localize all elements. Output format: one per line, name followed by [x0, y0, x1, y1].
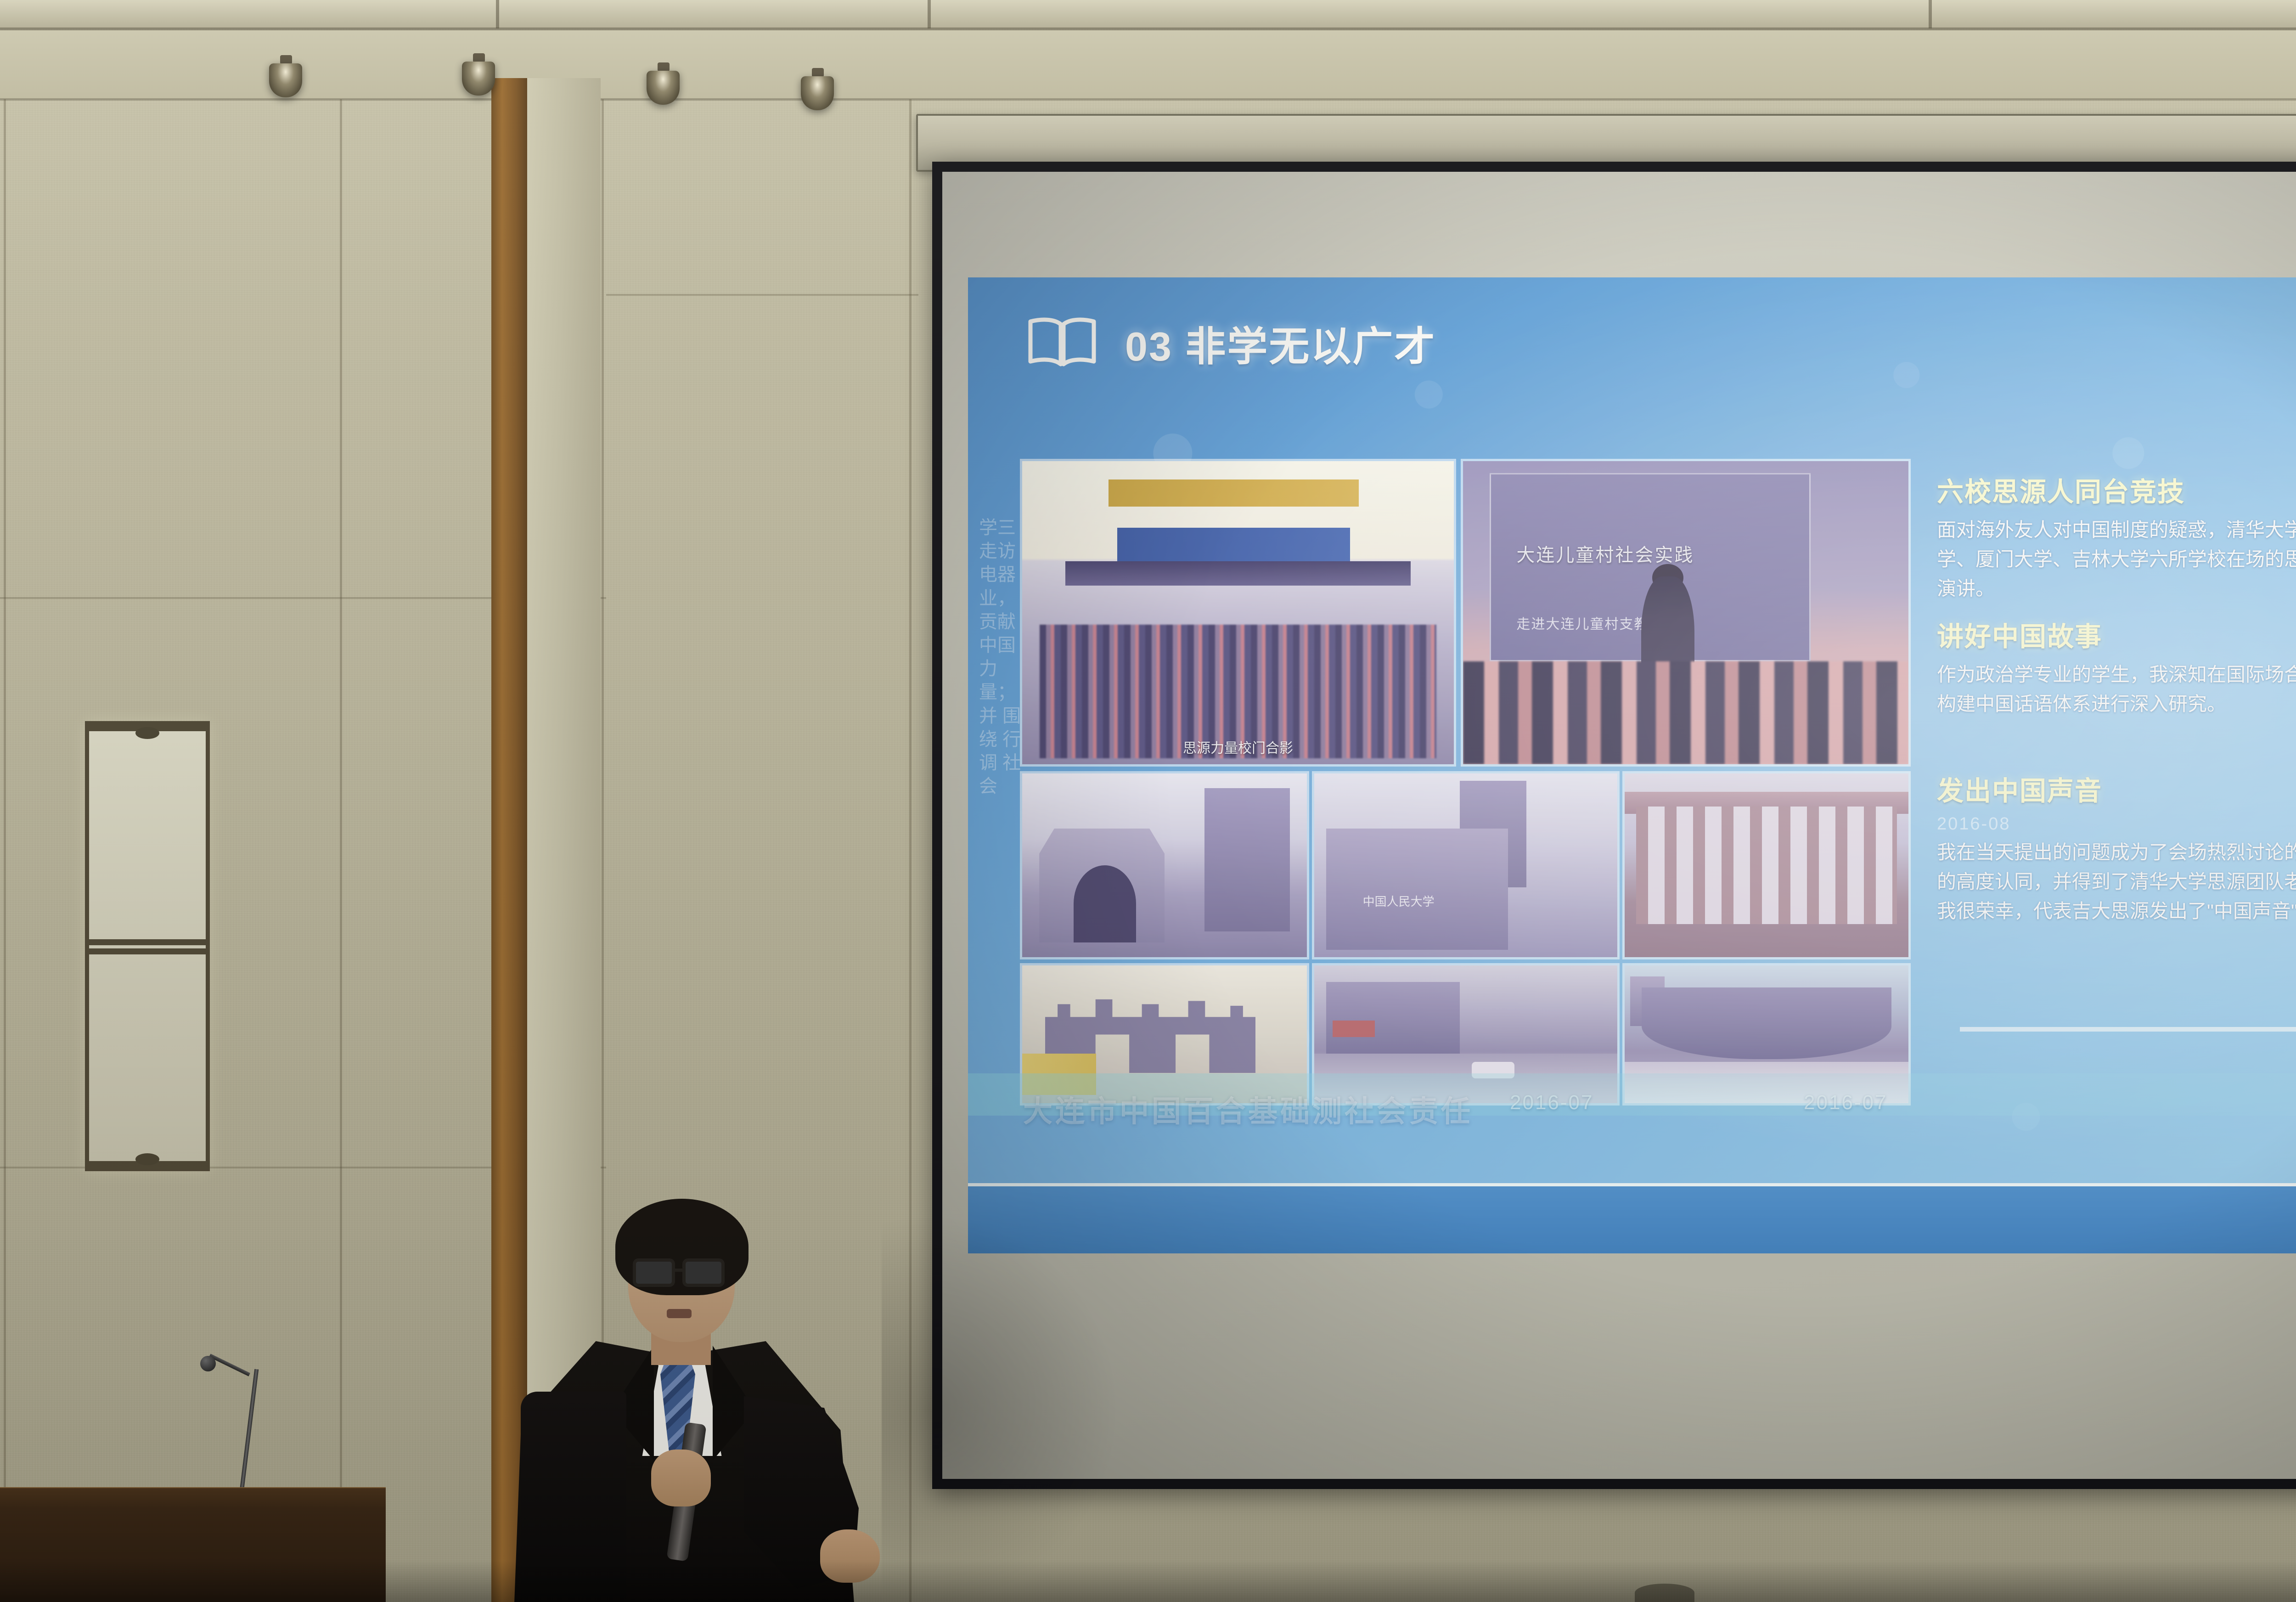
- colonnade-building-photo: [1625, 773, 1908, 957]
- open-book-icon: [1028, 316, 1097, 371]
- ceiling-seam: [496, 0, 499, 28]
- ceiling-soffit: [0, 0, 2296, 28]
- light-neck: [812, 68, 824, 77]
- section-3-heading: 发出中国声音: [1937, 769, 2296, 808]
- projected-slide: 03 非学无以广才 学三 走访 电器 业，贡献中国力量；并 围绕 行调 社会: [968, 277, 2296, 1253]
- upper-wall-band: [0, 30, 2296, 99]
- slide-header: 03 非学无以广才: [1028, 314, 1436, 372]
- ceiling-light: [801, 76, 834, 110]
- light-neck: [658, 62, 670, 72]
- photo-collage: 思源力量校门合影 大连儿童村社会实践 走进大连儿童村支教活动: [1022, 461, 1908, 1102]
- eyeglasses-right-lens: [682, 1258, 725, 1287]
- section-2-heading: 讲好中国故事: [1937, 615, 2296, 654]
- mouth: [667, 1309, 692, 1318]
- inner-slide-text: 大连儿童村社会实践: [1516, 540, 1837, 567]
- wall-sconce-light: [85, 721, 210, 1171]
- section-3-body: 我在当天提出的问题成为了会场热烈讨论的热点问题，我的阐释得到了在美华人的高度认同…: [1937, 838, 2296, 925]
- renmin-university-photo: 中国人民大学: [1314, 773, 1617, 957]
- photo-caption: 思源力量校门合影: [1022, 737, 1454, 757]
- floor-shadow: [0, 1561, 2296, 1602]
- light-neck: [280, 55, 292, 64]
- section-1-body: 面对海外友人对中国制度的疑惑，清华大学、中国人民大学、复旦大学、中山大学、厦门大…: [1937, 515, 2296, 603]
- eyeglasses-bridge: [674, 1269, 684, 1272]
- section-2: 讲好中国故事 作为政治学专业的学生，我深知在国际场合讲好中国故事的重要性，更致力…: [1937, 615, 2296, 719]
- ghost-overlay-text: 大连市中国百合基础测社会责任: [1023, 1088, 2296, 1130]
- upper-wall-edge: [0, 98, 2296, 101]
- podium-mic-head-icon: [200, 1356, 216, 1371]
- slide-text-column: 六校思源人同台竞技 面对海外友人对中国制度的疑惑，清华大学、中国人民大学、复旦大…: [1937, 470, 2296, 931]
- section-2-body: 作为政治学专业的学生，我深知在国际场合讲好中国故事的重要性，更致力于为构建中国话…: [1937, 660, 2296, 719]
- ceiling-light: [462, 62, 495, 96]
- ceiling-seam: [928, 0, 931, 28]
- slide-bottom-rule: [968, 1183, 2296, 1186]
- light-neck: [473, 53, 485, 62]
- section-1: 六校思源人同台竞技 面对海外友人对中国制度的疑惑，清华大学、中国人民大学、复旦大…: [1937, 470, 2296, 603]
- slide-footer-bar: [968, 1186, 2296, 1253]
- hand-left: [651, 1450, 711, 1506]
- wall-seam: [4, 99, 6, 1602]
- projection-screen: 03 非学无以广才 学三 走访 电器 业，贡献中国力量；并 围绕 行调 社会: [932, 162, 2296, 1489]
- ceiling-light: [647, 71, 680, 105]
- ghost-side-text: 学三 走访 电器 业，贡献中国力量；并 围绕 行调 社会: [979, 516, 1021, 798]
- group-photo-campus-gate: 思源力量校门合影: [1022, 461, 1454, 764]
- slide-title: 03 非学无以广才: [1125, 314, 1436, 372]
- lecture-presentation-photo: 大连儿童村社会实践 走进大连儿童村支教活动: [1463, 461, 1908, 764]
- ceiling-light: [269, 63, 302, 97]
- eyeglasses-left-lens: [633, 1258, 675, 1287]
- building-label: 中国人民大学: [1363, 892, 1435, 909]
- section-1-heading: 六校思源人同台竞技: [1937, 470, 2296, 509]
- wall-seam: [340, 99, 342, 1602]
- campus-archway-photo: [1022, 773, 1307, 957]
- section-3-date: 2016-08: [1937, 814, 2296, 834]
- section-3: 发出中国声音 2016-08 我在当天提出的问题成为了会场热烈讨论的热点问题，我…: [1937, 769, 2296, 925]
- ceiling-seam: [1929, 0, 1932, 28]
- presenter: [505, 1194, 872, 1602]
- lecture-hall-photo: ThreeStars 03 非学无以广才: [0, 0, 2296, 1602]
- presenter-shadow: [882, 1213, 1120, 1602]
- wall-seam: [606, 294, 918, 296]
- timeline-arrow-line: [1960, 1027, 2296, 1032]
